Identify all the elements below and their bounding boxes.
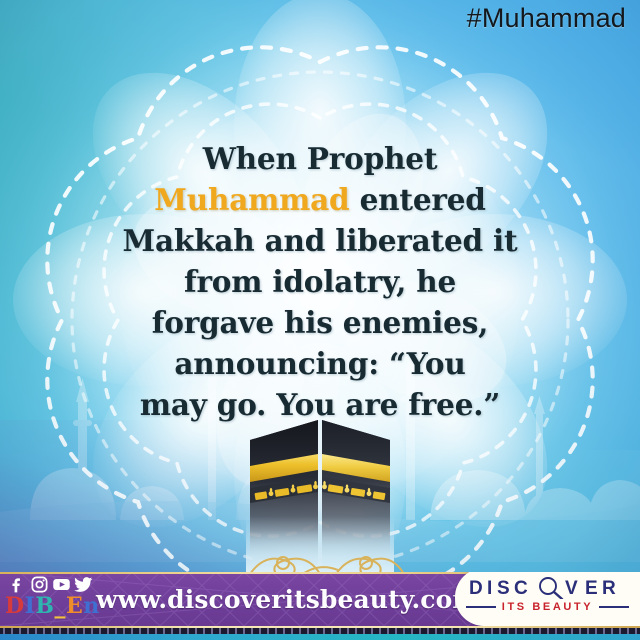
brand-logo-panel: D I S C V E R ITS BEAUTY [455, 572, 640, 626]
footer-bottom-strip [0, 634, 640, 640]
quote-line-4: from idolatry, he [120, 261, 520, 302]
instagram-icon[interactable] [30, 575, 49, 594]
handle-char-1: I [25, 595, 36, 617]
twitter-icon[interactable] [74, 575, 93, 594]
logo-tagline-row: ITS BEAUTY [455, 601, 640, 613]
quote-line-1: When Prophet [120, 138, 520, 179]
facebook-icon[interactable] [8, 575, 27, 594]
svg-text:I: I [487, 578, 494, 599]
website-url[interactable]: www.discoveritsbeauty.com [96, 586, 446, 614]
svg-text:R: R [602, 578, 618, 599]
logo-tagline: ITS BEAUTY [502, 601, 593, 613]
quote-line-2: Muhammad entered [120, 179, 520, 220]
handle-char-0: D [5, 595, 25, 617]
kaaba-illustration [230, 408, 410, 573]
handle-char-3: _ [54, 595, 66, 617]
hashtag-label: #Muhammad [467, 3, 626, 34]
svg-text:E: E [585, 578, 600, 599]
tagline-rule-left [466, 606, 496, 608]
tagline-rule-right [599, 606, 629, 608]
magnifier-icon [540, 578, 562, 599]
quote-line-7: may go. You are free.” [120, 384, 520, 425]
quote-text: When Prophet Muhammad entered Makkah and… [120, 138, 520, 425]
svg-text:C: C [514, 578, 530, 599]
svg-text:D: D [469, 578, 485, 599]
highlight-word: Muhammad [154, 182, 349, 217]
quote-line-5: forgave his enemies, [120, 302, 520, 343]
svg-text:V: V [565, 578, 580, 599]
svg-text:S: S [497, 578, 512, 599]
quote-line-2-rest: entered [350, 182, 486, 217]
discover-wordmark: D I S C V E R [469, 577, 627, 599]
poster-canvas: #Muhammad When Prophet Muhammad entered … [0, 0, 640, 640]
handle-char-2: B [35, 595, 54, 617]
handle-char-4: E [66, 595, 83, 617]
youtube-icon[interactable] [52, 575, 71, 594]
quote-line-3: Makkah and liberated it [120, 220, 520, 261]
social-icons [8, 575, 93, 594]
social-handle: DIB_En [5, 595, 100, 617]
footer-bar: DIB_En www.discoveritsbeauty.com D I S C… [0, 572, 640, 626]
quote-line-6: announcing: “You [120, 343, 520, 384]
